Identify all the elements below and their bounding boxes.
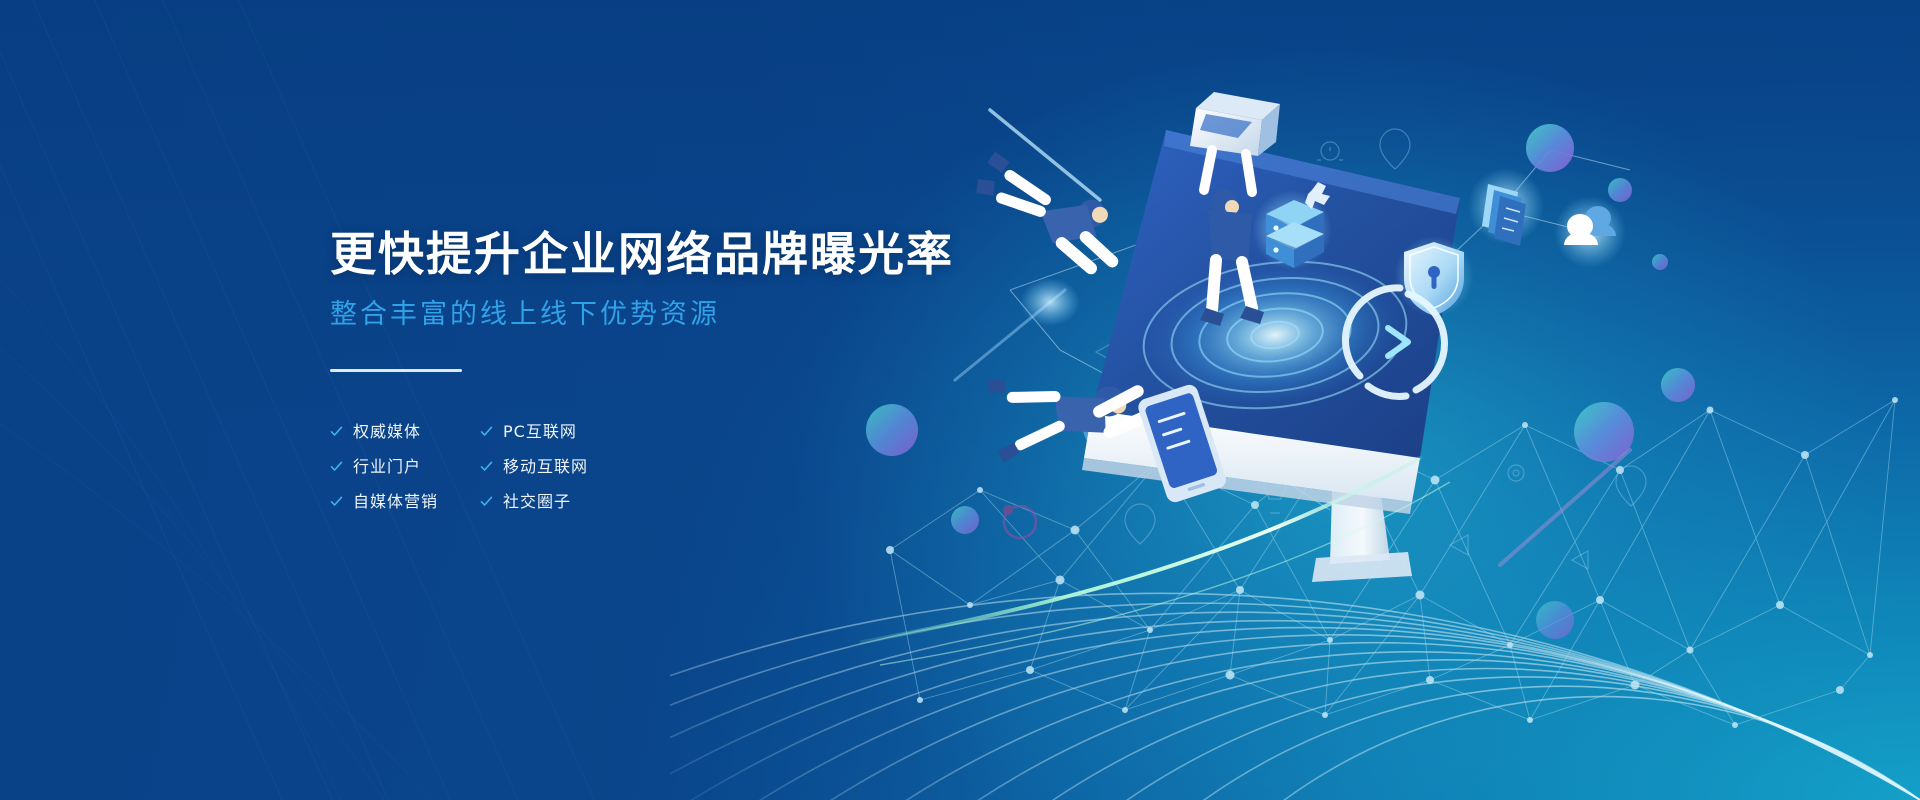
background-top-tint xyxy=(0,0,1920,800)
check-icon xyxy=(330,425,343,438)
hero-text-block: 更快提升企业网络品牌曝光率 整合丰富的线上线下优势资源 权威媒体 PC互联网 xyxy=(330,228,950,519)
feature-list: 权威媒体 PC互联网 行业门户 移动互联网 xyxy=(330,414,950,519)
feature-item-pc-internet: PC互联网 xyxy=(480,414,680,449)
hero-banner: 更快提升企业网络品牌曝光率 整合丰富的线上线下优势资源 权威媒体 PC互联网 xyxy=(0,0,1920,800)
feature-label: 行业门户 xyxy=(353,459,421,475)
feature-label: 自媒体营销 xyxy=(353,494,438,510)
feature-label: 社交圈子 xyxy=(503,494,571,510)
feature-label: PC互联网 xyxy=(503,424,577,440)
page-title: 更快提升企业网络品牌曝光率 xyxy=(330,228,950,281)
check-icon xyxy=(330,460,343,473)
check-icon xyxy=(330,495,343,508)
feature-item-mobile-internet: 移动互联网 xyxy=(480,449,680,484)
page-subtitle: 整合丰富的线上线下优势资源 xyxy=(330,299,950,331)
feature-label: 权威媒体 xyxy=(353,424,421,440)
feature-item-self-media-marketing: 自媒体营销 xyxy=(330,484,480,519)
title-divider xyxy=(330,369,462,372)
check-icon xyxy=(480,425,493,438)
check-icon xyxy=(480,495,493,508)
feature-label: 移动互联网 xyxy=(503,459,588,475)
feature-item-authoritative-media: 权威媒体 xyxy=(330,414,480,449)
feature-item-industry-portal: 行业门户 xyxy=(330,449,480,484)
check-icon xyxy=(480,460,493,473)
feature-item-social-circle: 社交圈子 xyxy=(480,484,680,519)
